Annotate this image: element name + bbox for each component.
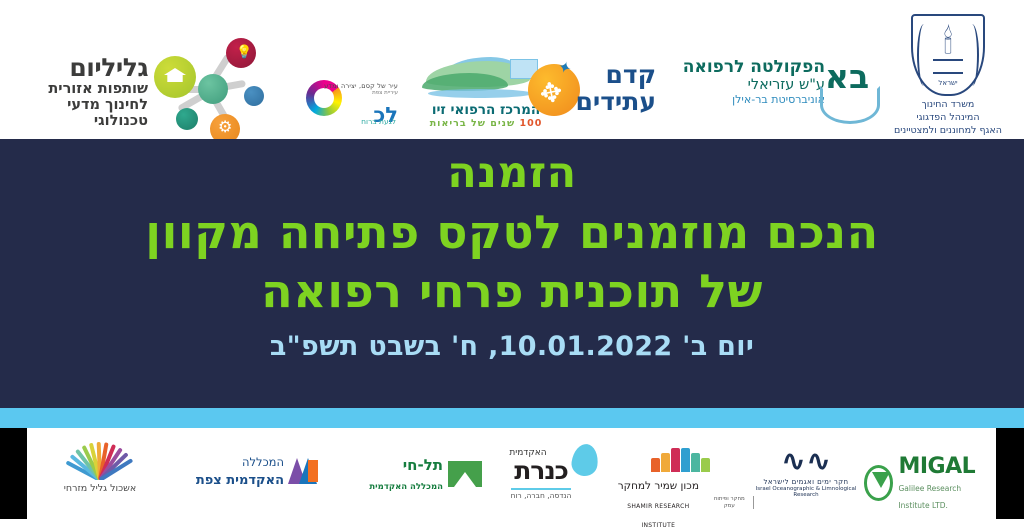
kinneret-line3: הנדסה, חברה, רוח — [511, 488, 572, 500]
shamir-line2: SHAMIR RESEARCH INSTITUTE — [627, 503, 689, 529]
kadma-line1: קדם — [575, 62, 656, 89]
zefat-college-line1: המכללה — [242, 455, 284, 469]
azrieli-line1: הפקולטה לרפואה — [650, 58, 825, 77]
zfat-slogan: לגעת ברוח — [361, 117, 396, 126]
right-black-margin — [996, 428, 1024, 519]
invitation-flyer: גליליום שותפות אזורית לחינוך מדעי טכנולו… — [0, 0, 1024, 519]
migal-mark-icon — [864, 465, 893, 501]
logo-ministry-of-education: 🕯 ישראל משרד החינוך המינהל הפדגוגי האגף … — [880, 14, 1016, 137]
tel-hai-line2: המכללה האקדמית — [369, 482, 443, 492]
invitation-headline: הזמנה — [447, 152, 576, 195]
left-black-margin — [0, 428, 27, 519]
kadma-line2: עתידים — [575, 89, 656, 116]
shamir-line1: מכון שמיר למחקר — [618, 480, 699, 492]
invitation-date-line: יום ב' 10.01.2022, ח' בשבט תשפ"ב — [270, 333, 754, 360]
logo-galilium: גליליום שותפות אזורית לחינוך מדעי טכנולו… — [18, 55, 148, 130]
wave-fish-icon: ∿∿ — [767, 448, 845, 478]
kadma-wordmark: קדם עתידים — [575, 62, 656, 115]
azrieli-line2: ע"ש עזריאלי — [650, 77, 825, 94]
moe-line1: משרד החינוך — [880, 99, 1016, 112]
moe-line2: המינהל הפדגוגי — [880, 112, 1016, 125]
logo-kadma-atidim: ✥ ✦ קדם עתידים — [528, 60, 656, 132]
invitation-body-line-2: של תוכנית פרחי רפואה — [261, 262, 763, 321]
emblem-word: ישראל — [938, 79, 957, 87]
logo-eshkol-galil-mizrahi: אשכול גליל מזרחי — [44, 440, 156, 494]
lightbulb-glyph: 💡 — [236, 46, 252, 59]
galilium-title: גליליום — [18, 55, 148, 81]
logo-zefat-academic-college: המכללה האקדמית צפת — [178, 452, 318, 489]
logo-azrieli-faculty: הפקולטה לרפואה ע"ש עזריאלי אוניברסיטת בר… — [650, 58, 825, 107]
eshkol-label: אשכול גליל מזרחי — [44, 483, 156, 494]
iolr-line1: חקר ימים ואגמים לישראל — [746, 478, 866, 486]
azrieli-line3: אוניברסיטת בר-אילן — [650, 93, 825, 106]
tel-hai-line1: תל-חי — [403, 456, 443, 474]
galilium-sub2: לחינוך מדעי טכנולוגי — [18, 97, 148, 129]
migal-line2: Galilee Research Institute LTD. — [898, 484, 961, 510]
bar-ilan-arc — [820, 86, 880, 124]
ziv-years-text: שנים של בריאות — [430, 118, 515, 129]
bar-ilan-emblem-icon: בא — [818, 60, 876, 124]
israel-emblem-icon: 🕯 ישראל — [911, 14, 985, 96]
invitation-body-line-1: הנכם מוזמנים לטקס פתיחה מקוון — [145, 203, 878, 262]
zefat-college-mark-icon — [288, 458, 318, 484]
gear-glyph: ⚙ — [218, 119, 232, 135]
molecule-icon: 💡 ⚙ — [152, 28, 272, 138]
migal-line1: MIGAL — [898, 454, 975, 479]
zfat-municipality: עיריית צפת — [324, 90, 398, 96]
moe-line3: האגף למחוננים ולמצטיינים — [880, 125, 1016, 138]
logo-zfat-city: עיר של קסם, יצירה ומדע עיריית צפת לכ לגע… — [278, 78, 398, 124]
color-fan-icon — [63, 440, 137, 480]
menorah-glyph: 🕯 — [943, 25, 952, 58]
iolr-line2: Israel Oceanographic & Limnological Rese… — [746, 486, 866, 498]
zfat-tagline: עיר של קסם, יצירה ומדע — [324, 82, 398, 90]
blue-divider-band — [0, 408, 1024, 428]
logo-migal: MIGAL Galilee Research Institute LTD. — [864, 455, 988, 512]
galilium-sub1: שותפות אזורית — [18, 81, 148, 97]
main-invitation-panel: הזמנה הנכם מוזמנים לטקס פתיחה מקוון של ת… — [0, 139, 1024, 408]
header-logo-band: גליליום שותפות אזורית לחינוך מדעי טכנולו… — [0, 0, 1024, 139]
sun-circle-icon: ✥ — [528, 64, 580, 116]
bird-glyph: ✥ — [537, 78, 565, 109]
rainbow-wing-icon — [651, 448, 715, 472]
logo-tel-hai-college: תל-חי המכללה האקדמית — [352, 455, 482, 493]
logo-israel-oceanographic-research: ∿∿ חקר ימים ואגמים לישראל Israel Oceanog… — [746, 448, 866, 498]
zefat-college-line2: האקדמית צפת — [196, 473, 284, 488]
logo-kinneret-college: האקדמית כנרת הנדסה, חברה, רוח — [476, 448, 606, 502]
